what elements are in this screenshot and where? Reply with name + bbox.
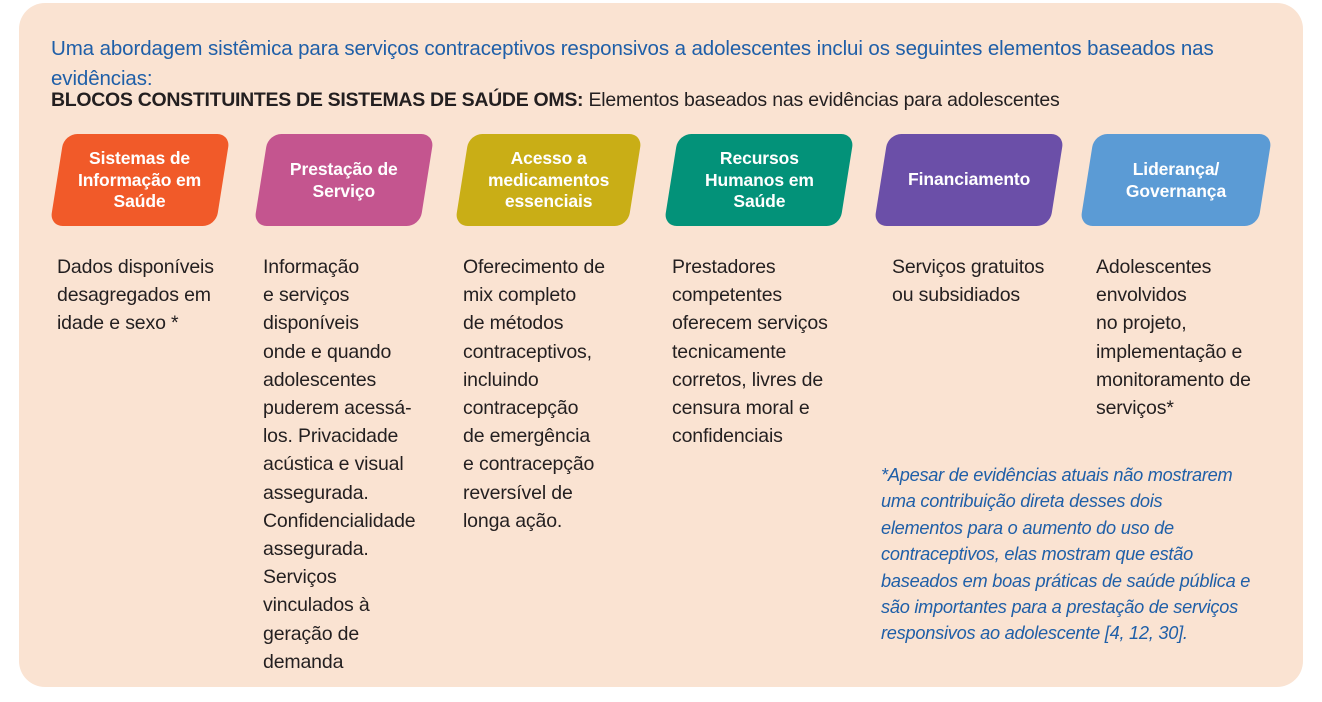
block-description-sistemas-de-informacao-em-saude: Dados disponíveis desagregados em idade …	[57, 253, 253, 338]
block-description-lideranca-governanca: Adolescentes envolvidos no projeto, impl…	[1096, 253, 1286, 422]
infographic-panel: Uma abordagem sistêmica para serviços co…	[19, 3, 1303, 687]
block-pill-recursos-humanos-em-saude[interactable]: Recursos Humanos em Saúde	[664, 134, 855, 226]
block-pill-lideranca-governanca[interactable]: Liderança/ Governança	[1080, 134, 1273, 226]
block-pill-label: Sistemas de Informação em Saúde	[72, 148, 207, 213]
headline-rest: Elementos baseados nas evidências para a…	[583, 89, 1059, 111]
block-pill-financiamento[interactable]: Financiamento	[874, 134, 1065, 226]
block-pill-prestacao-de-servico[interactable]: Prestação de Serviço	[254, 134, 435, 226]
block-pill-acesso-a-medicamentos-essenciais[interactable]: Acesso a medicamentos essenciais	[455, 134, 643, 226]
block-pill-sistemas-de-informacao-em-saude[interactable]: Sistemas de Informação em Saúde	[50, 134, 231, 226]
intro-paragraph: Uma abordagem sistêmica para serviços co…	[51, 34, 1266, 94]
block-description-recursos-humanos-em-saude: Prestadores competentes oferecem serviço…	[672, 253, 872, 450]
block-description-financiamento: Serviços gratuitos ou subsidiados	[892, 253, 1077, 309]
footnote-text: *Apesar de evidências atuais não mostrar…	[881, 462, 1291, 647]
block-pill-label: Recursos Humanos em Saúde	[699, 148, 820, 213]
block-description-acesso-a-medicamentos-essenciais: Oferecimento de mix completo de métodos …	[463, 253, 648, 535]
block-description-prestacao-de-servico: Informação e serviços disponíveis onde e…	[263, 253, 445, 676]
block-pill-label: Acesso a medicamentos essenciais	[482, 148, 615, 213]
block-pill-label: Prestação de Serviço	[284, 159, 404, 202]
block-pill-label: Liderança/ Governança	[1120, 159, 1232, 202]
building-blocks-row: Sistemas de Informação em Saúde Prestaçã…	[19, 134, 1303, 230]
block-pill-label: Financiamento	[902, 169, 1036, 191]
headline-strong: BLOCOS CONSTITUINTES DE SISTEMAS DE SAÚD…	[51, 89, 583, 111]
headline: BLOCOS CONSTITUINTES DE SISTEMAS DE SAÚD…	[51, 87, 1281, 113]
